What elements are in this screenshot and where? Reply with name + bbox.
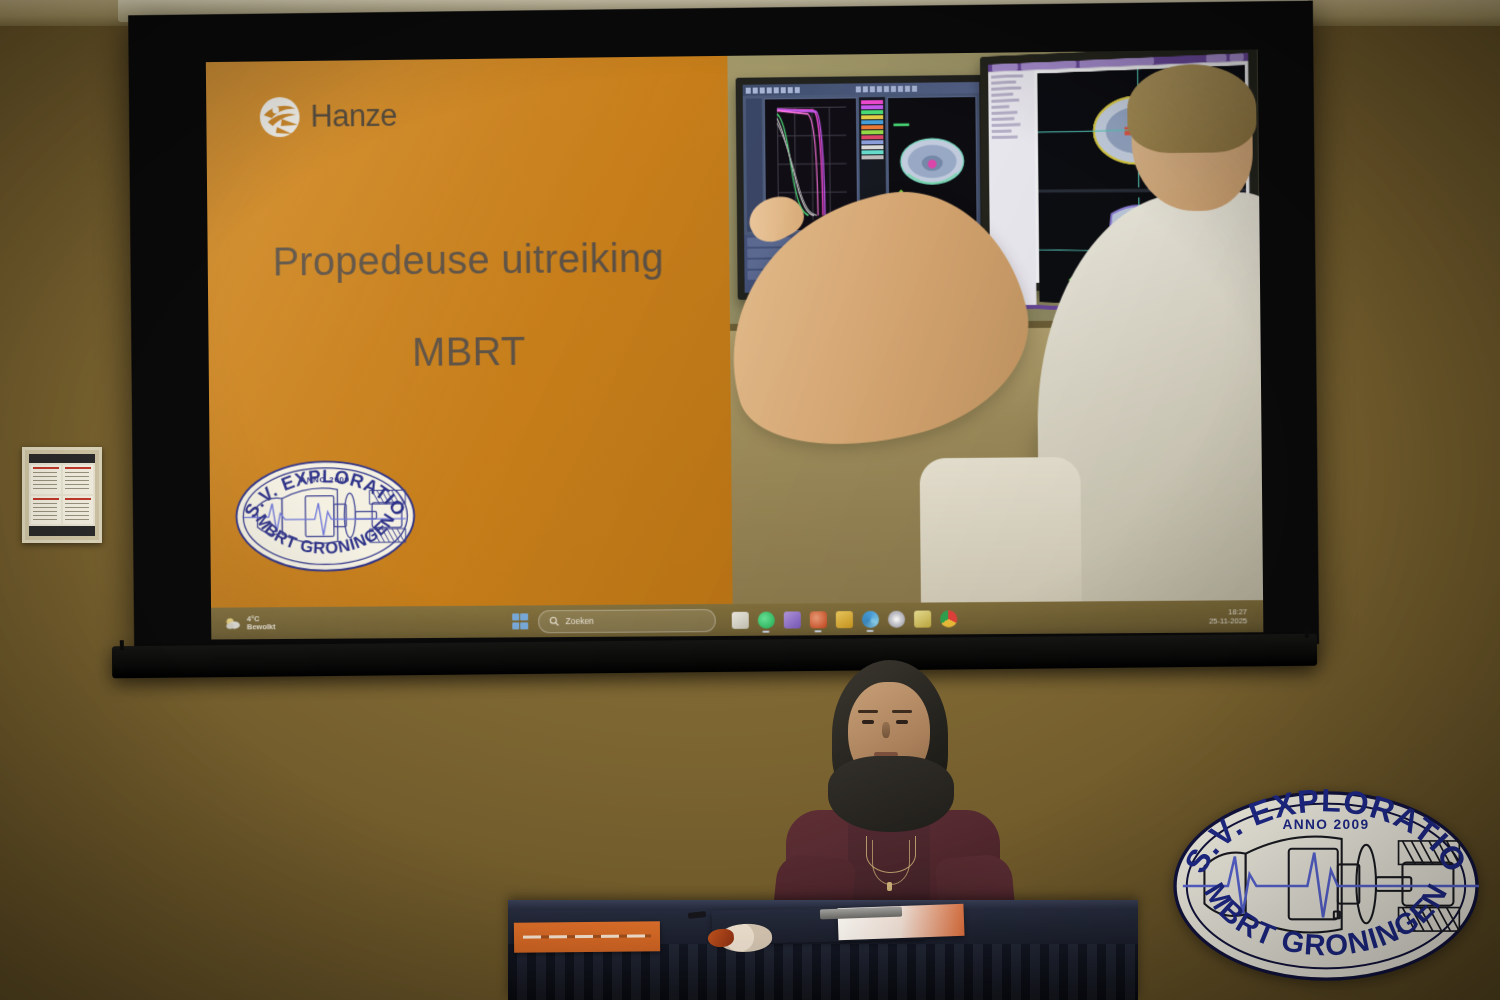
whatsapp-icon[interactable] [757,611,774,628]
presenter-nose [882,722,890,738]
necklace-secondary [872,840,910,885]
weather-condition: Bewolkt [247,623,276,631]
powerpoint-icon[interactable] [809,611,826,628]
copilot-icon[interactable] [887,610,904,627]
photo-chair [920,457,1082,604]
clock-date: 25-11-2025 [1096,616,1247,626]
notice-footer-bar [29,526,95,536]
framed-wall-notice [22,447,102,543]
chrome-icon[interactable] [940,610,957,627]
search-input[interactable]: Zoeken [538,609,716,633]
windows-start-button[interactable] [512,613,528,629]
watermark-anno-text: ANNO 2009 [1282,817,1369,832]
search-placeholder: Zoeken [566,616,594,626]
cloud-icon [225,616,242,630]
presenter-brow [892,710,912,713]
club-logo-anno-text: ANNO 2009 [300,475,349,484]
slide-title: Propedeuse uitreiking [208,236,730,286]
necklace-pendant [887,882,892,891]
notes-icon[interactable] [914,610,931,627]
weather-widget[interactable]: 4°C Bewolkt [211,615,374,632]
presenter-eye [896,720,908,724]
notice-cell [63,465,93,494]
hanze-wordmark: Hanze [310,98,397,135]
file-explorer-icon[interactable] [731,611,748,628]
pull-down-projection-screen: Hanze Propedeuse uitreiking MBRT [128,1,1319,652]
hanze-brand: Hanze [258,94,398,139]
person-hair [1127,64,1257,154]
taskbar-center: Zoeken [374,606,1096,634]
club-logo-on-slide: S.V. EXPLORATIO ANNO 2009 MBRT GRONINGEN [231,457,419,576]
taskbar-clock[interactable]: 18:27 25-11-2025 [1096,607,1263,627]
presenter-eye [862,720,874,724]
notice-cell [63,496,93,525]
microsoft-store-icon[interactable] [783,611,800,628]
slide-left-panel: Hanze Propedeuse uitreiking MBRT [206,56,733,608]
slide-subtitle: MBRT [208,328,730,378]
club-logo-watermark: S.V. EXPLORATIO ANNO 2009 MBRT GRONINGEN [1168,786,1484,986]
notice-cell [31,496,61,525]
weather-text: 4°C Bewolkt [247,615,276,631]
projected-slide: Hanze Propedeuse uitreiking MBRT [206,50,1264,640]
orange-certificate-folder [514,921,660,953]
windows-taskbar[interactable]: 4°C Bewolkt Zoeken [211,600,1263,639]
notice-cell [31,465,61,494]
notice-inner [29,454,95,536]
slide-photo-panel: AOC [727,50,1263,604]
notice-header-bar [29,454,95,463]
photos-icon[interactable] [861,610,878,627]
room-scene: Hanze Propedeuse uitreiking MBRT [0,0,1500,1000]
seated-presenter [770,660,1020,930]
folder-icon[interactable] [835,611,852,628]
taskbar-app-icons [731,610,957,629]
hanze-logo [258,95,302,139]
search-icon [549,616,559,626]
notice-grid [29,463,95,526]
table-cloth-pleats [508,944,1138,1000]
presenter-scarf [828,756,954,832]
presenter-brow [858,710,878,713]
